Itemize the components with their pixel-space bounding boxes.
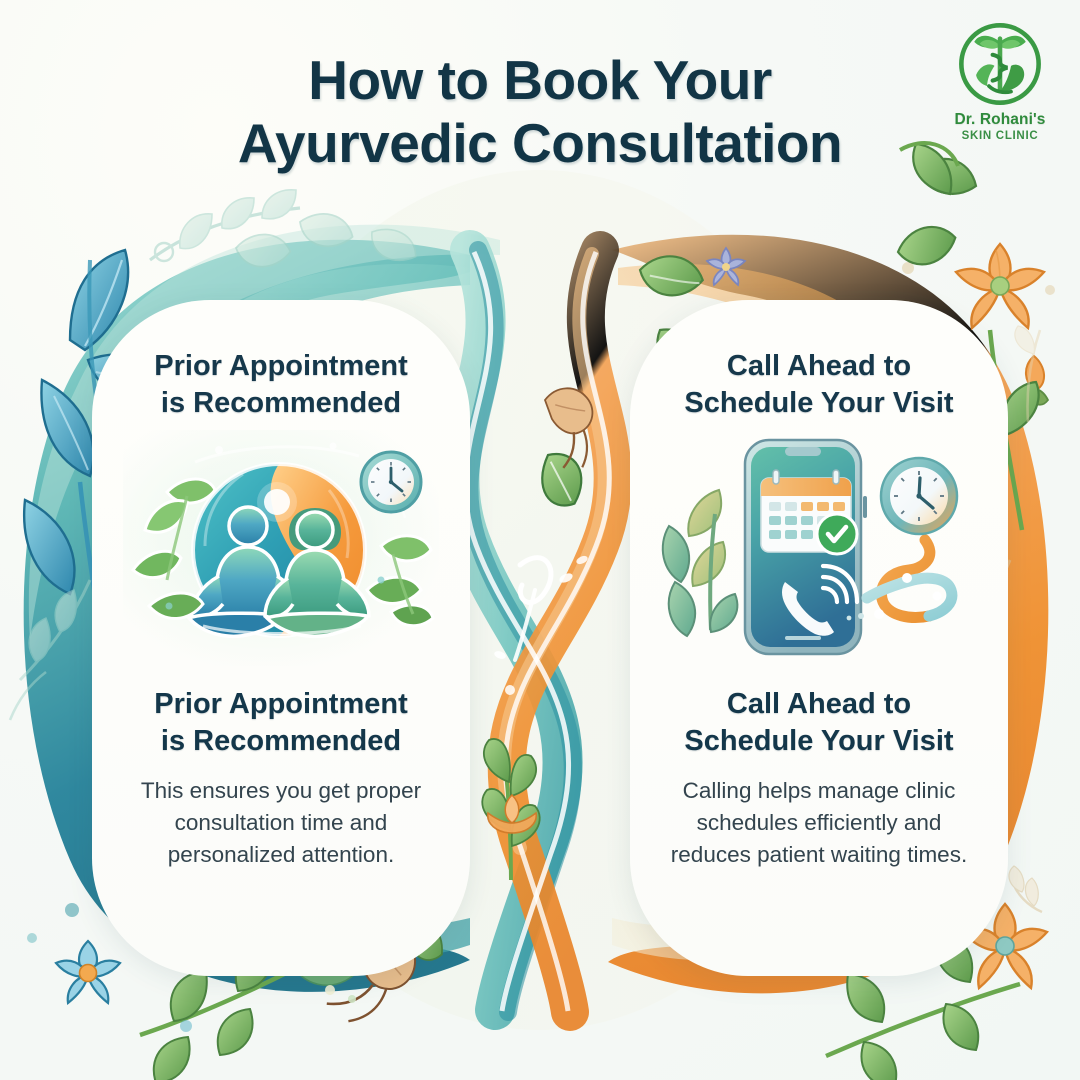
- card-right-body: Calling helps manage clinic schedules ef…: [660, 775, 978, 872]
- card-right-subheading-line2: Schedule Your Visit: [684, 725, 953, 757]
- infographic-poster: How to Book Your Ayurvedic Consultation …: [0, 0, 1080, 1080]
- card-left-subheading: Prior Appointment is Recommended: [154, 686, 407, 761]
- card-right-heading: Call Ahead to Schedule Your Visit: [684, 348, 953, 422]
- card-right-heading-line1: Call Ahead to: [727, 350, 911, 382]
- card-right-subheading: Call Ahead to Schedule Your Visit: [684, 686, 953, 761]
- logo-clinic-name: Dr. Rohani's: [936, 111, 1064, 129]
- card-left-subheading-line1: Prior Appointment: [154, 688, 407, 720]
- title-line-1: How to Book Your: [0, 48, 1080, 113]
- card-call-ahead[interactable]: Call Ahead to Schedule Your Visit: [630, 300, 1008, 976]
- title-line-2: Ayurvedic Consultation: [0, 111, 1080, 176]
- page-title: How to Book Your Ayurvedic Consultation: [0, 48, 1080, 177]
- clinic-logo: Dr. Rohani's SKIN CLINIC: [936, 18, 1064, 142]
- card-left-heading-line2: is Recommended: [161, 387, 401, 419]
- card-left-body: This ensures you get proper consultation…: [126, 775, 436, 872]
- card-right-heading-line2: Schedule Your Visit: [684, 387, 953, 419]
- card-left-heading: Prior Appointment is Recommended: [154, 348, 407, 422]
- card-left-subheading-line2: is Recommended: [161, 725, 401, 757]
- meditation-couple-clock-illustration: [123, 430, 439, 666]
- logo-clinic-subtitle: SKIN CLINIC: [936, 130, 1064, 142]
- card-prior-appointment[interactable]: Prior Appointment is Recommended: [92, 300, 470, 976]
- card-right-subheading-line1: Call Ahead to: [727, 688, 911, 720]
- caduceus-leaf-icon: [954, 18, 1046, 110]
- smartphone-calendar-clock-illustration: [661, 430, 977, 666]
- card-left-heading-line1: Prior Appointment: [154, 350, 407, 382]
